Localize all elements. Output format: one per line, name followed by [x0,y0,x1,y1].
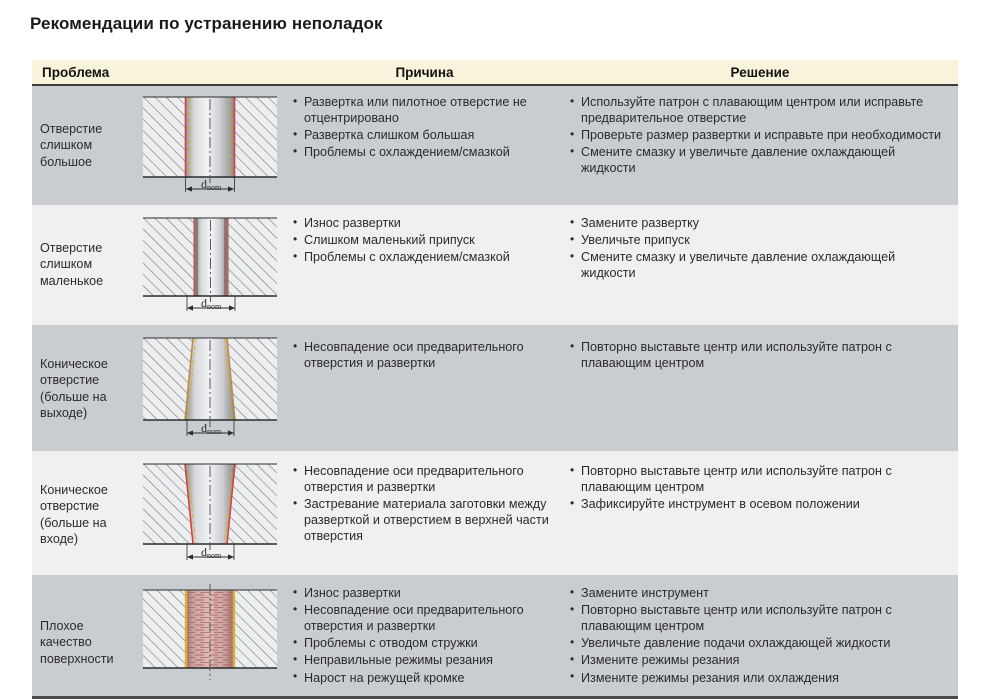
remedy-list: Используйте патрон с плавающим центром и… [562,94,958,177]
cause-list: Несовпадение оси предварительного отверс… [287,339,562,371]
list-item: Замените инструмент [568,585,952,601]
list-item: Смените смазку и увеличьте давление охла… [568,249,952,281]
bore-diagram-icon [139,584,281,684]
problem-label: Отверстиеслишкомбольшое [32,93,137,170]
problem-cell: Плохоекачествоповерхности [32,575,287,697]
figure-straight-bore-oversize: dnom [137,93,287,198]
list-item: Измените режимы резания [568,652,952,668]
remedy-cell: Повторно выставьте центр или используйте… [562,451,958,575]
troubleshooting-table: Проблема Причина Решение Отверстиеслишко… [32,60,958,699]
list-item: Износ развертки [291,585,556,601]
list-item: Смените смазку и увеличьте давление охла… [568,144,952,176]
table-row: Плохоекачествоповерхности [32,575,958,697]
bore-diagram-icon: dnom [139,460,281,566]
list-item: Проблемы с охлаждением/смазкой [291,144,556,160]
table-header: Проблема Причина Решение [32,60,958,85]
cause-list: Износ разверткиНесовпадение оси предвари… [287,585,562,686]
dimension-label: dnom [201,177,222,192]
list-item: Развертка слишком большая [291,127,556,143]
problem-label: Коническоеотверстие(больше навыходе) [32,334,137,421]
cause-list: Износ разверткиСлишком маленький припуск… [287,215,562,265]
table-row: Отверстиеслишкомбольшое [32,85,958,205]
bore-diagram-icon: dnom [139,334,281,442]
list-item: Повторно выставьте центр или используйте… [568,339,952,371]
remedy-list: Повторно выставьте центр или используйте… [562,339,958,371]
list-item: Несовпадение оси предварительного отверс… [291,463,556,495]
bore-diagram-icon: dnom [139,93,281,198]
cause-cell: Износ разверткиСлишком маленький припуск… [287,205,562,325]
list-item: Застревание материала заготовки между ра… [291,496,556,544]
table-body: Отверстиеслишкомбольшое [32,85,958,697]
problem-cell: Отверстиеслишкоммаленькое [32,205,287,325]
dimension-label: dnom [201,421,222,436]
list-item: Слишком маленький припуск [291,232,556,248]
list-item: Проверьте размер развертки и исправьте п… [568,127,952,143]
dimension-label: dnom [201,545,222,560]
problem-cell: Коническоеотверстие(больше навходе) [32,451,287,575]
list-item: Замените развертку [568,215,952,231]
cause-cell: Развертка или пилотное отверстие не отце… [287,85,562,205]
remedy-cell: Замените разверткуУвеличьте припускСмени… [562,205,958,325]
list-item: Используйте патрон с плавающим центром и… [568,94,952,126]
remedy-cell: Замените инструментПовторно выставьте це… [562,575,958,697]
table-row: Коническоеотверстие(больше навходе) [32,451,958,575]
table-row: Коническоеотверстие(больше навыходе) [32,325,958,451]
list-item: Проблемы с отводом стружки [291,635,556,651]
remedy-list: Замените разверткуУвеличьте припускСмени… [562,215,958,281]
figure-tapered-bore-wide-at-entry: dnom [137,460,287,566]
problem-label: Отверстиеслишкоммаленькое [32,214,137,289]
list-item: Повторно выставьте центр или используйте… [568,602,952,634]
column-header-problem: Проблема [32,60,287,85]
figure-tapered-bore-wide-at-exit: dnom [137,334,287,442]
list-item: Неправильные режимы резания [291,652,556,668]
figure-straight-bore-undersize: dnom [137,214,287,316]
problem-label: Плохоекачествоповерхности [32,584,137,667]
remedy-cell: Используйте патрон с плавающим центром и… [562,85,958,205]
list-item: Измените режимы резания или охлаждения [568,670,952,686]
list-item: Повторно выставьте центр или используйте… [568,463,952,495]
figure-rough-surface-bore [137,584,287,684]
dimension-label: dnom [201,296,222,311]
cause-cell: Износ разверткиНесовпадение оси предвари… [287,575,562,697]
table-row: Отверстиеслишкоммаленькое [32,205,958,325]
list-item: Развертка или пилотное отверстие не отце… [291,94,556,126]
list-item: Несовпадение оси предварительного отверс… [291,339,556,371]
list-item: Нарост на режущей кромке [291,670,556,686]
problem-cell: Отверстиеслишкомбольшое [32,85,287,205]
page-title: Рекомендации по устранению неполадок [30,14,383,34]
column-header-remedy: Решение [562,60,958,85]
list-item: Увеличьте давление подачи охлаждающей жи… [568,635,952,651]
cause-cell: Несовпадение оси предварительного отверс… [287,325,562,451]
list-item: Износ развертки [291,215,556,231]
cause-list: Развертка или пилотное отверстие не отце… [287,94,562,160]
remedy-list: Повторно выставьте центр или используйте… [562,463,958,512]
bore-diagram-icon: dnom [139,214,281,316]
cause-list: Несовпадение оси предварительного отверс… [287,463,562,545]
problem-label: Коническоеотверстие(больше навходе) [32,460,137,547]
list-item: Несовпадение оси предварительного отверс… [291,602,556,634]
remedy-cell: Повторно выставьте центр или используйте… [562,325,958,451]
column-header-cause: Причина [287,60,562,85]
cause-cell: Несовпадение оси предварительного отверс… [287,451,562,575]
remedy-list: Замените инструментПовторно выставьте це… [562,585,958,686]
list-item: Проблемы с охлаждением/смазкой [291,249,556,265]
list-item: Увеличьте припуск [568,232,952,248]
problem-cell: Коническоеотверстие(больше навыходе) [32,325,287,451]
list-item: Зафиксируйте инструмент в осевом положен… [568,496,952,512]
header-row: Проблема Причина Решение [32,60,958,85]
